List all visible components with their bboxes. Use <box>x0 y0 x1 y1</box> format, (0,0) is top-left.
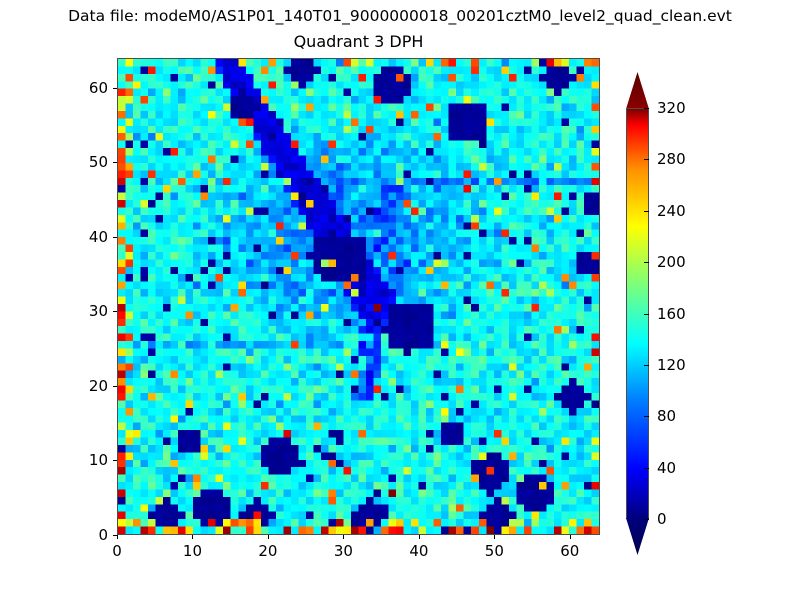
colorbar-tick-label: 320 <box>657 99 686 117</box>
colorbar[interactable] <box>626 58 650 535</box>
y-tick-label: 20 <box>48 377 108 395</box>
x-tick-label: 30 <box>313 542 373 560</box>
y-tick-label: 60 <box>48 79 108 97</box>
y-tick-label: 40 <box>48 228 108 246</box>
colorbar-extend-min-arrow <box>626 518 649 555</box>
x-tick-label: 0 <box>87 542 147 560</box>
y-tick <box>113 460 117 461</box>
colorbar-tick <box>644 519 649 520</box>
x-tick <box>419 535 420 539</box>
data-file-label: Data file: modeM0/AS1P01_140T01_90000000… <box>0 7 800 25</box>
colorbar-tick-label: 200 <box>657 253 686 271</box>
x-tick <box>192 535 193 539</box>
colorbar-tick <box>644 468 649 469</box>
colorbar-tick-label: 280 <box>657 150 686 168</box>
x-tick <box>343 535 344 539</box>
y-tick <box>113 237 117 238</box>
colorbar-tick <box>644 262 649 263</box>
y-tick <box>113 535 117 536</box>
colorbar-tick-label: 0 <box>657 510 667 528</box>
colorbar-tick <box>644 314 649 315</box>
colorbar-tick <box>644 159 649 160</box>
y-tick-label: 0 <box>48 526 108 544</box>
heatmap-axes[interactable] <box>117 58 600 535</box>
colorbar-tick-label: 80 <box>657 407 676 425</box>
y-tick-label: 50 <box>48 153 108 171</box>
x-tick-label: 20 <box>238 542 298 560</box>
plot-title: Quadrant 3 DPH <box>117 32 600 51</box>
colorbar-tick <box>644 365 649 366</box>
y-tick-label: 10 <box>48 451 108 469</box>
heatmap-image <box>118 59 599 534</box>
colorbar-tick <box>644 416 649 417</box>
colorbar-tick-label: 120 <box>657 356 686 374</box>
x-tick-label: 50 <box>464 542 524 560</box>
figure-canvas: Data file: modeM0/AS1P01_140T01_90000000… <box>0 0 800 600</box>
x-tick <box>117 535 118 539</box>
x-tick-label: 60 <box>540 542 600 560</box>
y-tick <box>113 88 117 89</box>
x-tick-label: 10 <box>162 542 222 560</box>
colorbar-tick-label: 240 <box>657 202 686 220</box>
y-tick-label: 30 <box>48 302 108 320</box>
colorbar-tick-label: 40 <box>657 459 676 477</box>
y-tick <box>113 386 117 387</box>
colorbar-extend-max-arrow <box>626 72 649 109</box>
y-tick <box>113 311 117 312</box>
colorbar-tick-label: 160 <box>657 305 686 323</box>
x-tick <box>570 535 571 539</box>
x-tick <box>494 535 495 539</box>
colorbar-tick <box>644 211 649 212</box>
x-tick-label: 40 <box>389 542 449 560</box>
y-tick <box>113 162 117 163</box>
x-tick <box>268 535 269 539</box>
colorbar-tick <box>644 108 649 109</box>
